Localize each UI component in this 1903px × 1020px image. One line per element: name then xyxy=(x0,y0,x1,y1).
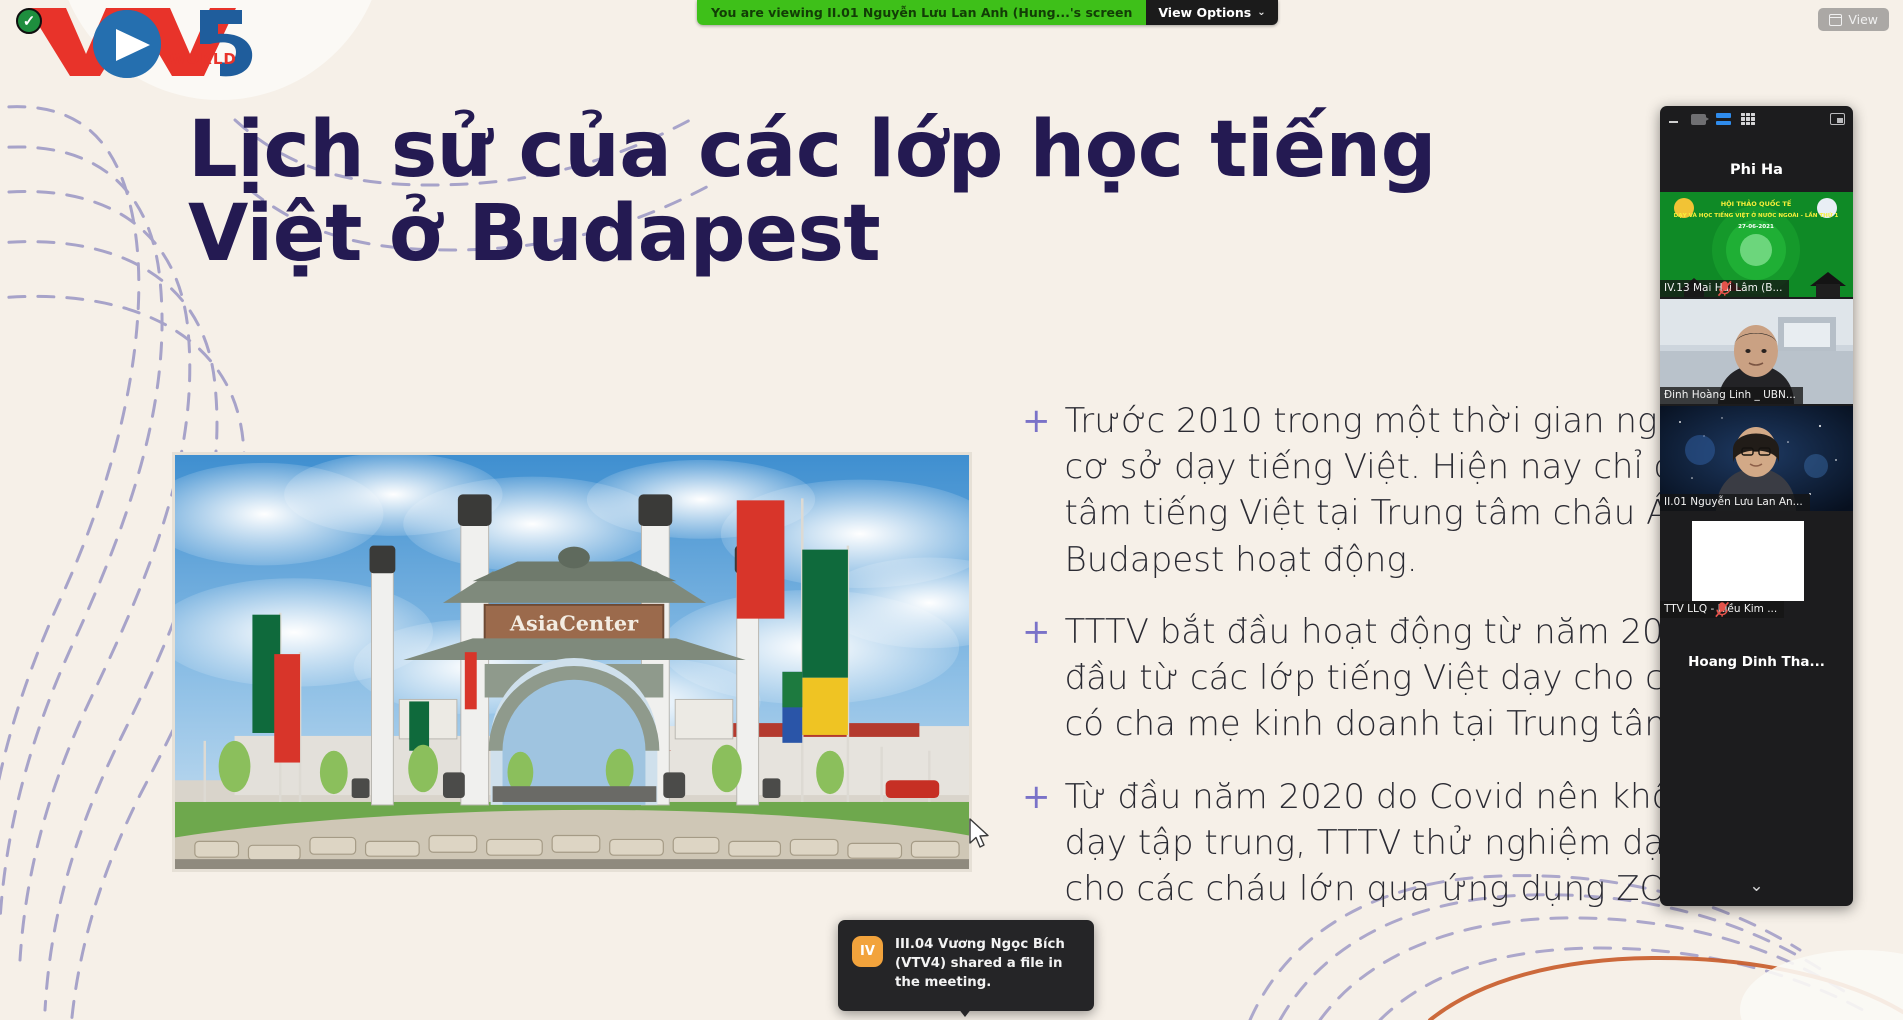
record-check-icon: ✓ xyxy=(16,8,42,34)
view-button-label: View xyxy=(1848,12,1878,27)
panel-toolbar xyxy=(1660,106,1853,132)
mic-muted-icon xyxy=(1660,601,1784,618)
toast-pointer xyxy=(954,1003,976,1017)
view-button[interactable]: View xyxy=(1818,8,1889,31)
list-item: + TTTV bắt đầu hoạt động từ năm 201 đầu … xyxy=(1022,609,1722,748)
participant-thumbnail[interactable]: HỘI THẢO QUỐC TẾ DẠY VÀ HỌC TIẾNG VIỆT Ở… xyxy=(1660,192,1853,297)
bullet-text: TTTV bắt đầu hoạt động từ năm 201 đầu từ… xyxy=(1065,609,1704,748)
screen-share-banner: You are viewing II.01 Nguyễn Lưu Lan Anh… xyxy=(697,0,1278,25)
slide-bullet-list: + Trước 2010 trong một thời gian ngắn cơ… xyxy=(1022,398,1722,938)
mic-muted-icon xyxy=(1660,280,1789,297)
thumbnail-label: II.01 Nguyễn Lưu Lan An... xyxy=(1660,494,1810,511)
bullet-marker-icon: + xyxy=(1022,774,1051,913)
active-speaker-name: Phi Ha xyxy=(1660,132,1853,192)
view-options-button[interactable]: View Options ⌄ xyxy=(1146,0,1277,25)
strip-view-icon[interactable] xyxy=(1716,113,1731,125)
svg-text:HỘI THẢO QUỐC TẾ: HỘI THẢO QUỐC TẾ xyxy=(1721,198,1792,208)
bullet-marker-icon: + xyxy=(1022,398,1051,583)
list-item: + Trước 2010 trong một thời gian ngắn cơ… xyxy=(1022,398,1722,583)
minimize-icon[interactable] xyxy=(1668,113,1681,126)
file-shared-toast[interactable]: IV III.04 Vương Ngọc Bích (VTV4) shared … xyxy=(838,920,1094,1011)
screen-root: WORLD ✓ Lịch sử của các lớp học tiếng Vi… xyxy=(0,0,1903,1020)
slide-photo-asiacenter: AsiaCenter AsiaCenter BUDAPEST xyxy=(172,452,972,872)
vov5-logo: WORLD ✓ xyxy=(14,2,254,78)
thumbnail-label: Đinh Hoàng Linh _ UBN... xyxy=(1660,387,1803,404)
mouse-cursor xyxy=(968,818,992,852)
toast-message: III.04 Vương Ngọc Bích (VTV4) shared a f… xyxy=(895,936,1080,993)
bullet-marker-icon: + xyxy=(1022,609,1051,748)
participant-thumbnail[interactable]: TTV LLQ - Kiều Kim ... xyxy=(1660,513,1853,618)
thumbnail-label: IV.13 Mai Hải Lâm (B... xyxy=(1660,280,1789,297)
slide-title: Lịch sử của các lớp học tiếng Việt ở Bud… xyxy=(188,108,1588,276)
svg-text:AsiaCenter: AsiaCenter xyxy=(509,611,639,636)
bullet-text: Từ đầu năm 2020 do Covid nên khô dạy tập… xyxy=(1065,774,1694,913)
participant-thumbnail[interactable]: Đinh Hoàng Linh _ UBN... xyxy=(1660,299,1853,404)
chevron-down-icon: ⌄ xyxy=(1257,7,1265,18)
list-item: + Từ đầu năm 2020 do Covid nên khô dạy t… xyxy=(1022,774,1722,913)
svg-text:WORLD: WORLD xyxy=(169,50,237,68)
zoom-participant-panel[interactable]: Phi Ha HỘI THẢO QUỐC TẾ DẠY VÀ HỌC TIẾNG… xyxy=(1660,106,1853,906)
speaker-view-icon[interactable] xyxy=(1691,114,1706,125)
thumbnail-label: TTV LLQ - Kiều Kim ... xyxy=(1660,601,1784,618)
participant-thumbnail-active[interactable]: II.01 Nguyễn Lưu Lan An... xyxy=(1660,406,1853,511)
gallery-view-icon[interactable] xyxy=(1741,113,1755,126)
svg-text:27-06-2021: 27-06-2021 xyxy=(1738,224,1774,230)
viewing-status-text: You are viewing II.01 Nguyễn Lưu Lan Anh… xyxy=(697,0,1146,25)
avatar: IV xyxy=(852,936,883,967)
blank-video-tile xyxy=(1692,521,1804,601)
chevron-down-icon[interactable]: ⌄ xyxy=(1660,876,1853,896)
picture-in-picture-icon[interactable] xyxy=(1830,113,1845,125)
bullet-text: Trước 2010 trong một thời gian ngắn cơ s… xyxy=(1065,398,1725,583)
participant-name-no-video: Hoang Dinh Tha... xyxy=(1660,620,1853,670)
view-options-label: View Options xyxy=(1158,5,1251,20)
grid-view-icon xyxy=(1829,14,1842,26)
